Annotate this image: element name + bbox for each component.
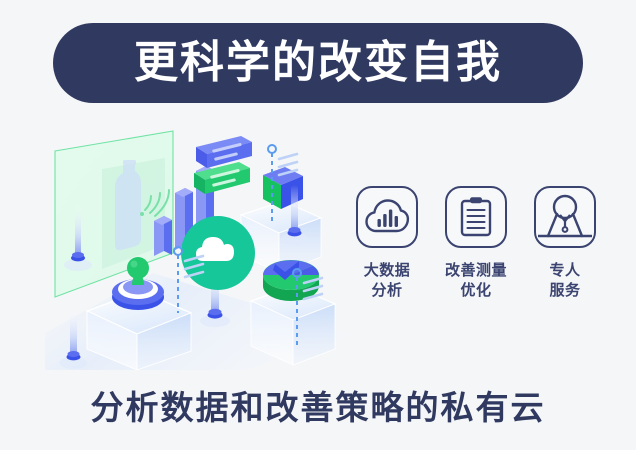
poster-root: 更科学的改变自我 <box>0 0 636 450</box>
cloud-bar-chart-icon-box <box>356 186 418 248</box>
feature-item-service[interactable]: 专人 服务 <box>530 186 600 331</box>
support-agent-icon <box>536 188 594 246</box>
feature-item-big-data[interactable]: 大数据 分析 <box>352 186 422 331</box>
feature-label: 专人 服务 <box>549 261 580 302</box>
glass-green-panel <box>55 131 173 297</box>
tagline: 分析数据和改善策略的私有云 <box>0 388 636 428</box>
feature-item-measurement[interactable]: 改善测量 优化 <box>441 186 511 331</box>
tag-card-green <box>194 162 250 194</box>
clipboard-icon <box>456 195 496 239</box>
title-banner: 更科学的改变自我 <box>53 23 583 103</box>
tag-card-blue <box>196 136 252 168</box>
support-agent-icon-box <box>534 186 596 248</box>
feature-label: 改善测量 优化 <box>445 261 507 302</box>
clipboard-icon-box <box>445 186 507 248</box>
cloud-bar-chart-icon <box>364 197 410 237</box>
page-title: 更科学的改变自我 <box>134 41 502 85</box>
feature-label: 大数据 分析 <box>364 261 411 302</box>
feature-list: 大数据 分析 改善测量 优化 <box>352 186 600 331</box>
isometric-illustration <box>45 125 355 370</box>
